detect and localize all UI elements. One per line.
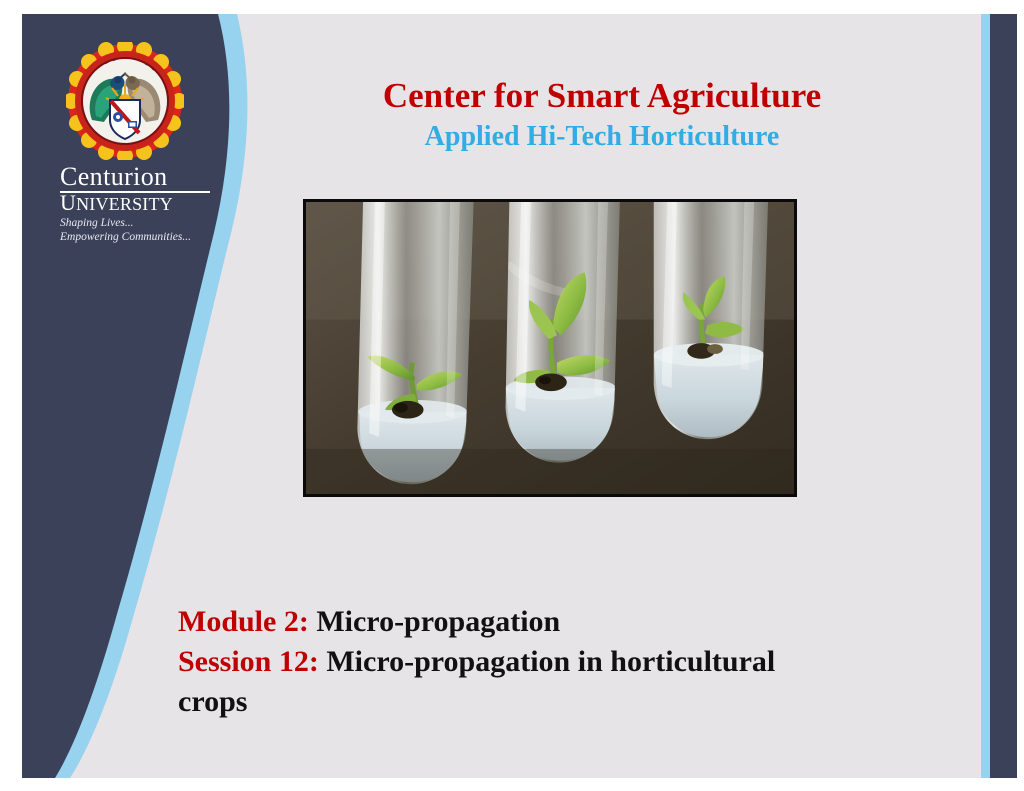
session-info-text: Module 2: Micro-propagation Session 12: …: [178, 602, 968, 722]
brand-block: Centurion UNIVERSITY Shaping Lives... Em…: [22, 14, 222, 244]
centurion-university-crest-icon: [66, 42, 184, 160]
slide-canvas: Centurion UNIVERSITY Shaping Lives... Em…: [22, 14, 1017, 778]
right-edge-blue-stripe: [981, 14, 990, 778]
module-label: Module 2:: [178, 605, 309, 638]
brand-subname: UNIVERSITY: [60, 192, 220, 215]
brand-tagline-2: Empowering Communities...: [60, 230, 260, 244]
brand-tagline-1: Shaping Lives...: [60, 216, 260, 230]
test-tube-plantlets-photo: [303, 199, 797, 497]
brand-subname-rest: NIVERSITY: [76, 194, 173, 214]
module-value: Micro-propagation: [309, 605, 560, 638]
brand-name: Centurion: [60, 164, 210, 193]
session-value: Micro-propagation in horticultural: [319, 645, 775, 678]
right-edge-navy-bar: [990, 14, 1017, 778]
module-line: Module 2: Micro-propagation: [178, 602, 968, 642]
page-title: Center for Smart Agriculture: [222, 76, 982, 116]
session-line: Session 12: Micro-propagation in horticu…: [178, 642, 968, 682]
brand-subname-first: U: [60, 190, 76, 215]
page-subtitle: Applied Hi-Tech Horticulture: [222, 120, 982, 154]
session-label: Session 12:: [178, 645, 319, 678]
session-line-continued: crops: [178, 682, 968, 722]
